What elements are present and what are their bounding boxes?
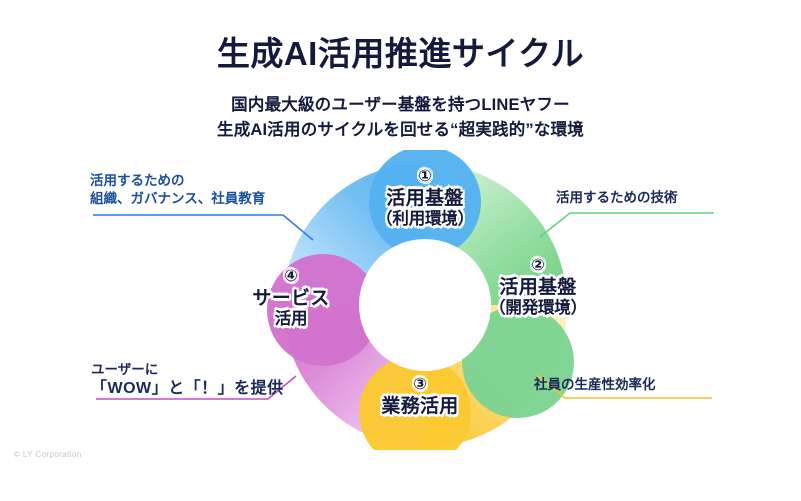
callout-top-left-line2: 組織、ガバナンス、社員教育: [90, 190, 265, 208]
callout-bottom-left: ユーザーに 「WOW」と「！」を提供: [91, 361, 284, 399]
callout-top-right: 活用するための技術: [556, 189, 678, 207]
callout-bottom-right: 社員の生産性効率化: [534, 376, 656, 394]
callout-top-left: 活用するための 組織、ガバナンス、社員教育: [90, 172, 265, 207]
connector-top-right: [540, 213, 714, 237]
slide-canvas: 生成AI活用推進サイクル 国内最大級のユーザー基盤を持つLINEヤフー 生成AI…: [0, 0, 801, 501]
callout-top-left-line1: 活用するための: [90, 172, 265, 190]
callout-bottom-right-line1: 社員の生産性効率化: [534, 376, 656, 394]
copyright-notice: © LY Corporation: [14, 450, 82, 459]
callout-bottom-left-line2: 「WOW」と「！」を提供: [91, 379, 284, 400]
callout-top-right-line1: 活用するための技術: [556, 189, 678, 207]
callout-bottom-left-line1: ユーザーに: [91, 361, 284, 379]
callout-connectors: [0, 0, 801, 501]
connector-top-left: [93, 215, 313, 240]
